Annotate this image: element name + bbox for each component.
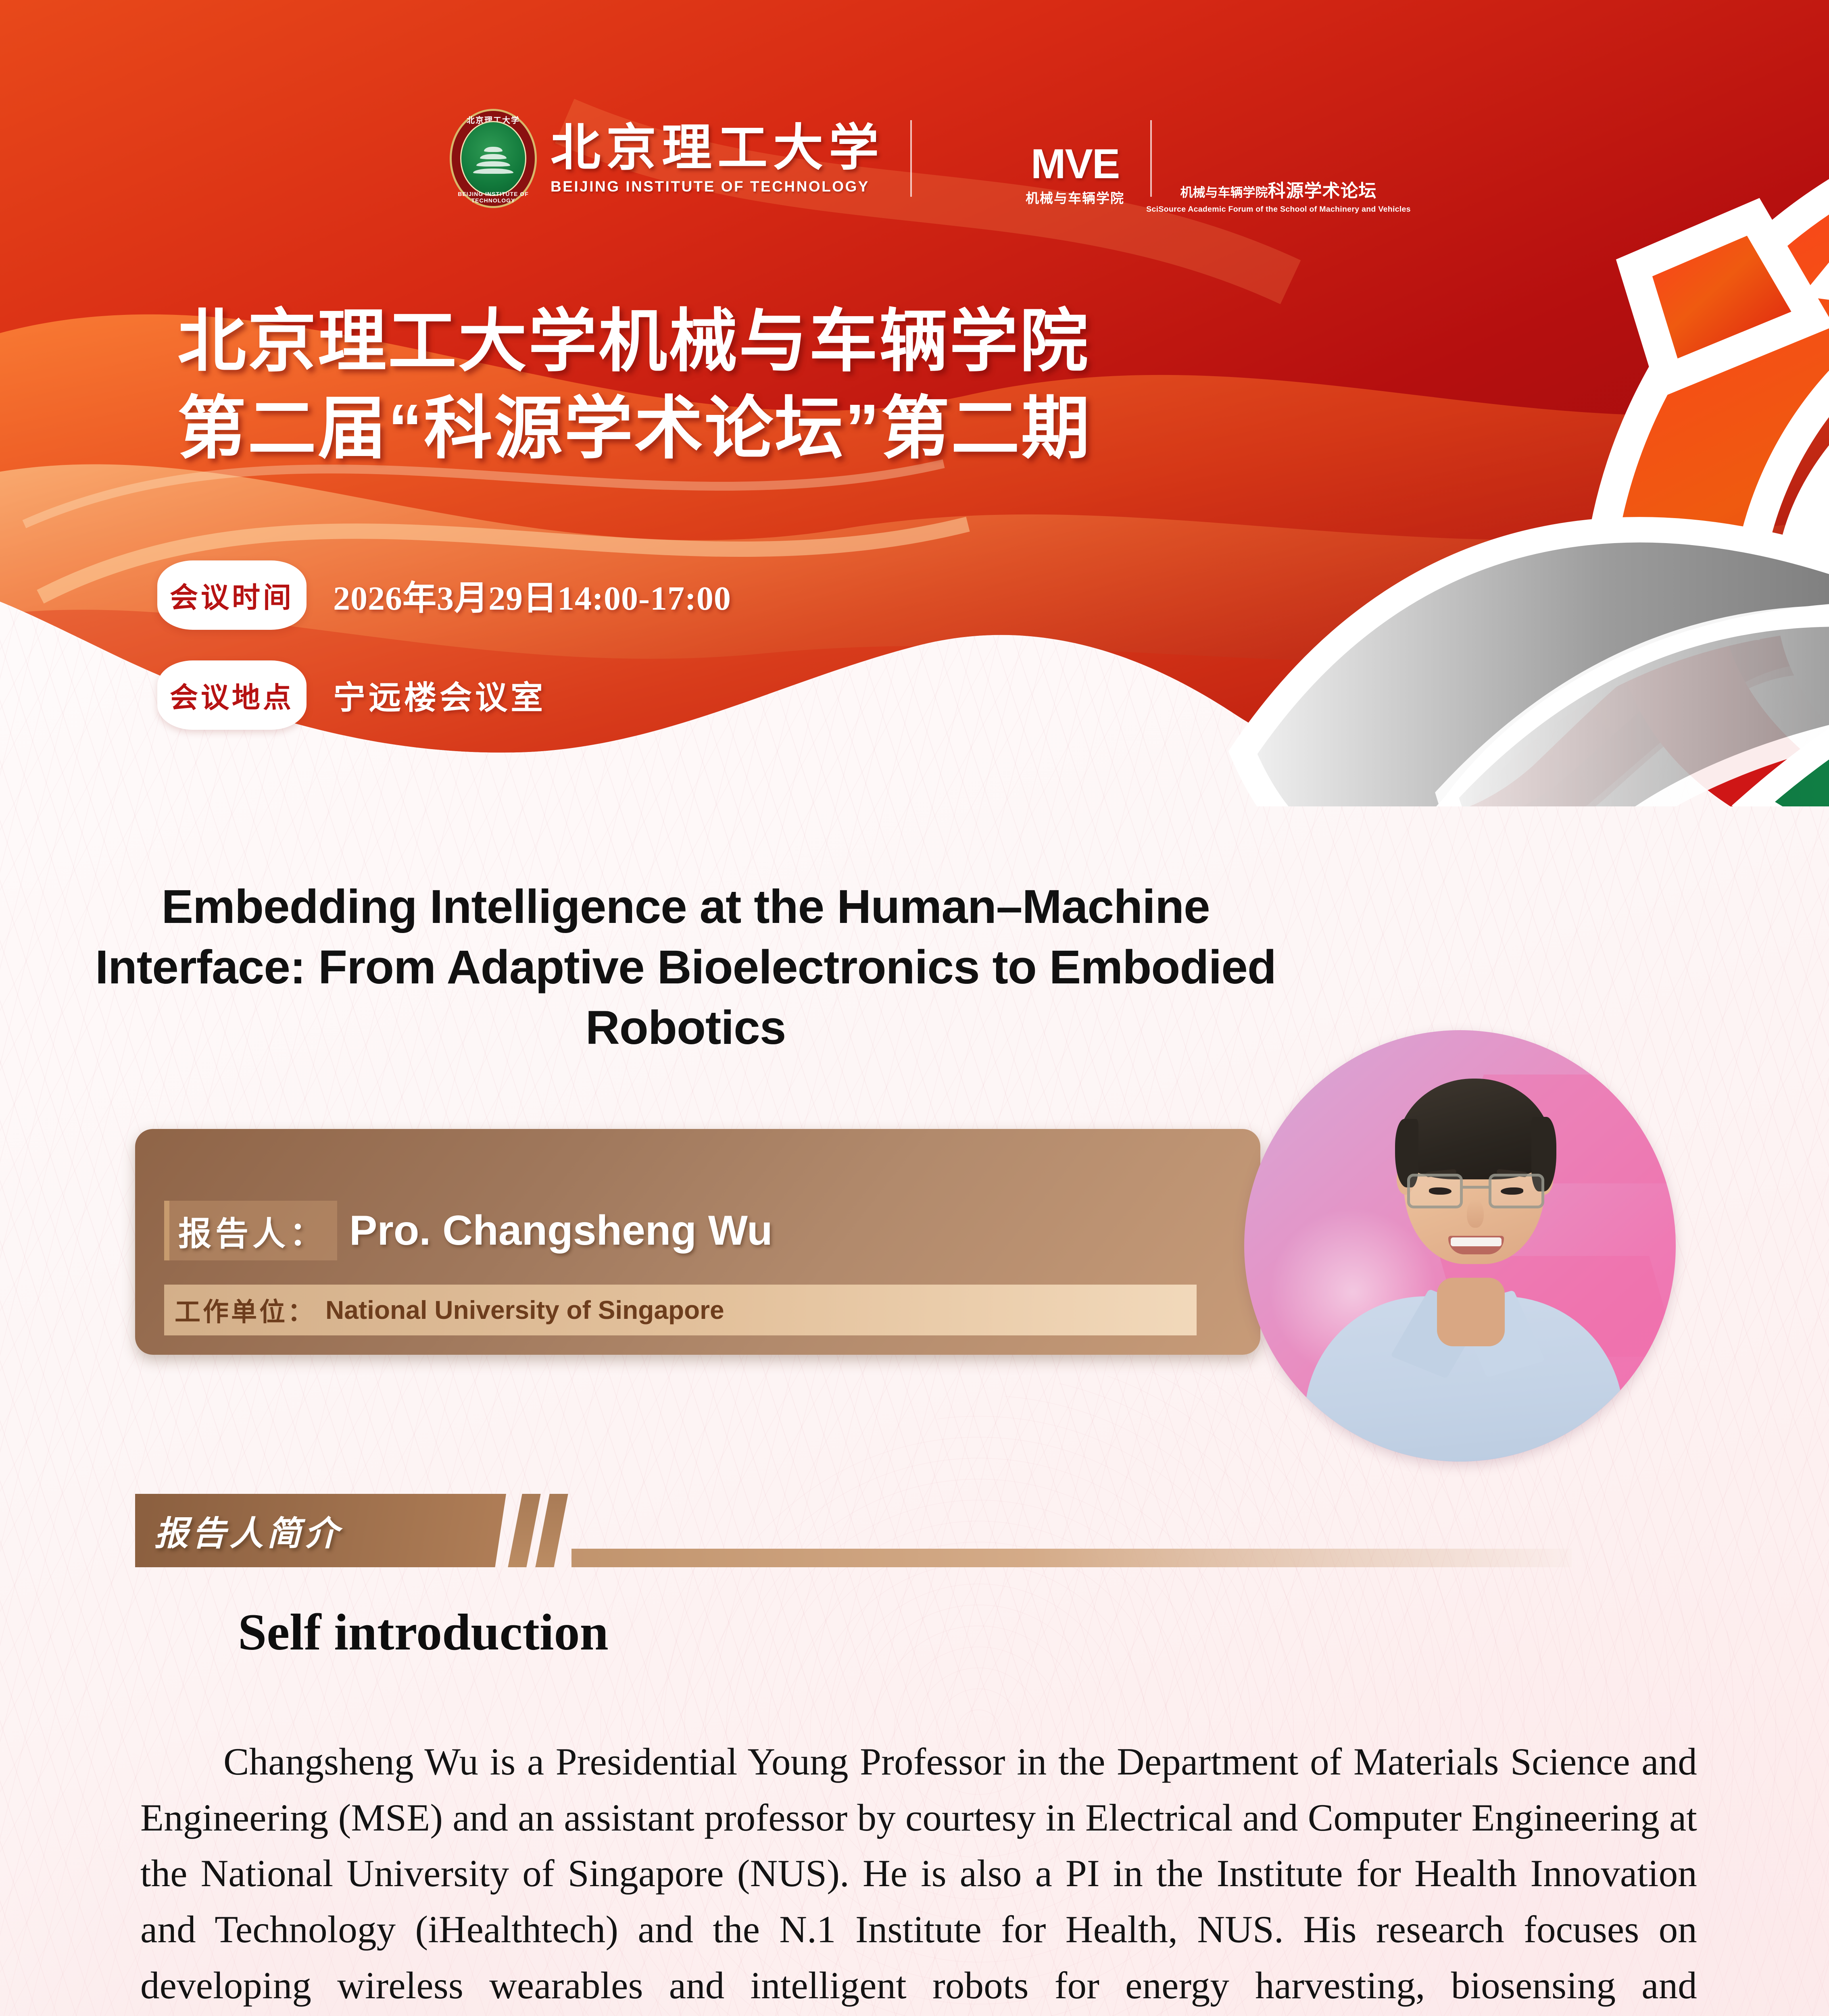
speaker-name: Pro. Changsheng Wu: [349, 1207, 773, 1255]
meeting-venue-label-pill: 会议地点: [157, 660, 307, 730]
speaker-accent-bar: [164, 1201, 169, 1260]
meeting-info-row-time: 会议时间 2026年3月29日14:00-17:00: [157, 560, 731, 630]
speaker-affiliation-value: National University of Singapore: [325, 1295, 724, 1325]
speaker-portrait: [1244, 1030, 1676, 1462]
meeting-info-row-venue: 会议地点 宁远楼会议室: [157, 660, 731, 730]
meeting-venue-label: 会议地点: [170, 675, 294, 716]
speaker-role-label: 报告人：: [178, 1207, 327, 1255]
poster-root: 北京理工大学 BEIJING INSTITUTE OF TECHNOLOGY: [0, 0, 1829, 2016]
speaker-affiliation-row: 工作单位： National University of Singapore: [164, 1285, 1197, 1335]
meeting-time-value: 2026年3月29日14:00-17:00: [333, 571, 731, 620]
talk-title: Embedding Intelligence at the Human–Mach…: [89, 877, 1283, 1058]
bit-name-en: BEIJING INSTITUTE OF TECHNOLOGY: [551, 179, 884, 194]
section-ribbon-speaker-bio: 报告人简介: [135, 1494, 1572, 1567]
meeting-time-label: 会议时间: [170, 575, 294, 616]
section-ribbon-label: 报告人简介: [154, 1506, 342, 1555]
bit-seal-tree-icon: [473, 147, 513, 176]
logo-school-of-machinery: MVE 机械与车辆学院: [938, 110, 1124, 207]
speaker-name-row: 报告人： Pro. Changsheng Wu: [164, 1201, 773, 1260]
bit-seal-bottom-text: BEIJING INSTITUTE OF TECHNOLOGY: [450, 191, 537, 204]
bit-seal-icon: 北京理工大学 BEIJING INSTITUTE OF TECHNOLOGY: [450, 109, 537, 208]
meeting-time-label-pill: 会议时间: [157, 560, 307, 630]
bit-name-cn: 北京理工大学: [551, 123, 884, 173]
portrait-person-illustration: [1244, 1030, 1676, 1462]
self-introduction-heading: Self introduction: [238, 1603, 609, 1662]
logo-row: 北京理工大学 BEIJING INSTITUTE OF TECHNOLOGY: [0, 103, 1829, 214]
speaker-card: 报告人： Pro. Changsheng Wu 工作单位： National U…: [135, 1129, 1260, 1355]
logo-bit: 北京理工大学 BEIJING INSTITUTE OF TECHNOLOGY: [450, 109, 884, 208]
main-title-line-2: 第二届“科源学术论坛”第二期: [177, 385, 1629, 473]
meeting-venue-value: 宁远楼会议室: [333, 672, 546, 719]
ribbon-slash-2: [535, 1494, 568, 1567]
header-banner: 北京理工大学 BEIJING INSTITUTE OF TECHNOLOGY: [0, 0, 1829, 806]
logo-divider-1: [910, 120, 912, 197]
speaker-bio-paragraph: Changsheng Wu is a Presidential Young Pr…: [140, 1734, 1697, 2016]
meeting-info-list: 会议时间 2026年3月29日14:00-17:00 会议地点 宁远楼会议室: [157, 560, 731, 760]
logo-scisource-forum: 机械与车辆学院科源学术论坛 SciSource Academic Forum o…: [1178, 103, 1379, 214]
mv-swirl-icon: [938, 110, 1022, 207]
forum-gear-wave-icon: [1192, 103, 1365, 175]
poster-main-title: 北京理工大学机械与车辆学院 第二届“科源学术论坛”第二期: [177, 298, 1629, 473]
ribbon-tail-bar: [571, 1549, 1572, 1567]
speaker-affiliation-label: 工作单位：: [175, 1291, 316, 1329]
ribbon-slash-1: [508, 1494, 540, 1567]
main-title-line-1: 北京理工大学机械与车辆学院: [177, 298, 1629, 385]
